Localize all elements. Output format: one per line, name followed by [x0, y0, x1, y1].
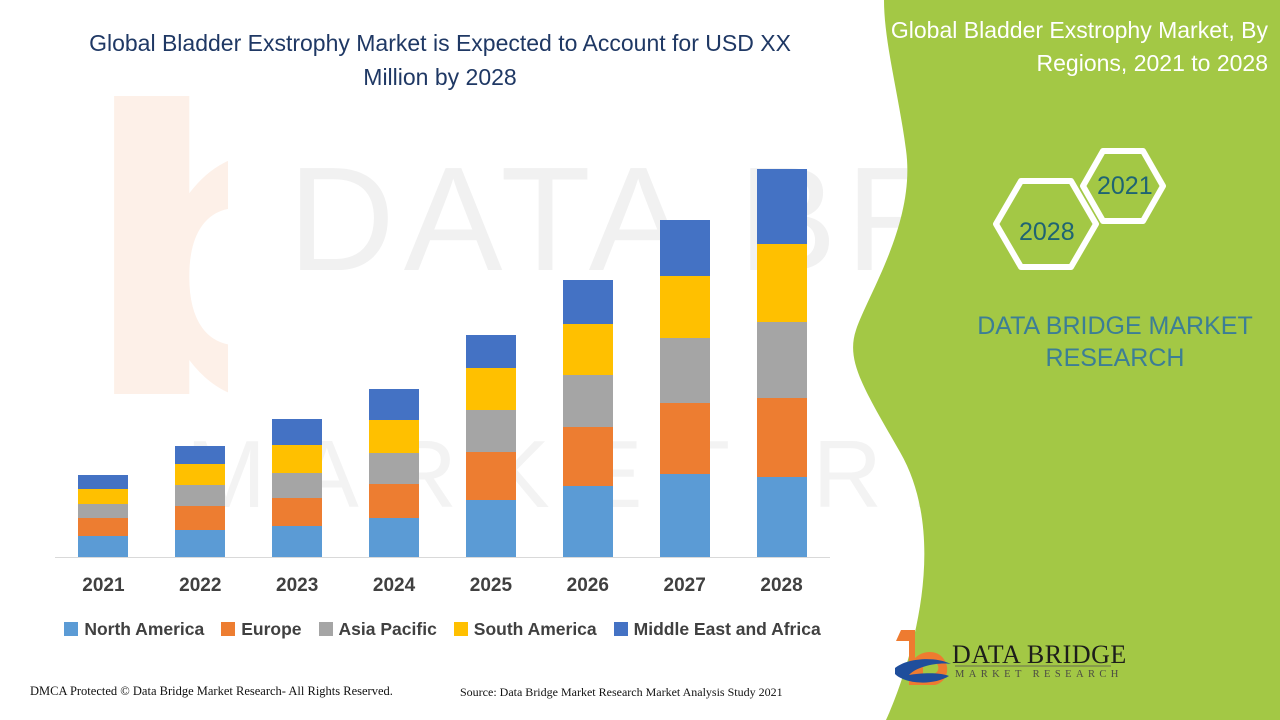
bar-column-2023	[249, 140, 345, 557]
bar-segment	[272, 498, 322, 526]
legend-swatch	[614, 622, 628, 636]
logo-wordmark: DATA BRIDGE	[952, 640, 1127, 670]
bar-segment	[369, 389, 419, 420]
bar-segment	[78, 504, 128, 519]
x-axis-tick-labels: 20212022202320242025202620272028	[55, 572, 830, 600]
bar-segment	[466, 368, 516, 410]
stacked-bar	[563, 280, 613, 557]
bar-column-2021	[55, 140, 151, 557]
hexagon-2021-label: 2021	[1097, 172, 1153, 201]
bar-segment	[272, 526, 322, 557]
x-axis-line	[55, 557, 830, 558]
bar-segment	[369, 420, 419, 452]
bar-segment	[369, 453, 419, 484]
bar-segment	[466, 335, 516, 368]
bar-segment	[272, 473, 322, 498]
bar-segment	[272, 419, 322, 445]
bar-segment	[563, 486, 613, 557]
stacked-bar	[78, 475, 128, 557]
legend-swatch	[64, 622, 78, 636]
x-tick-2028: 2028	[734, 575, 830, 597]
stacked-bar	[466, 335, 516, 557]
bar-segment	[660, 338, 710, 403]
bar-column-2022	[152, 140, 248, 557]
bar-segment	[78, 489, 128, 504]
bar-segment	[466, 410, 516, 452]
x-tick-2022: 2022	[152, 575, 248, 597]
bar-column-2025	[443, 140, 539, 557]
x-tick-2026: 2026	[540, 575, 636, 597]
hexagon-2028-label: 2028	[1019, 218, 1075, 247]
bar-segment	[660, 220, 710, 275]
bar-segment	[660, 276, 710, 339]
bar-segment	[369, 484, 419, 518]
logo-b-mark	[895, 630, 951, 685]
bar-segment	[757, 169, 807, 244]
chart-title: Global Bladder Exstrophy Market is Expec…	[60, 26, 820, 94]
panel-title: Global Bladder Exstrophy Market, By Regi…	[890, 14, 1268, 80]
x-tick-2021: 2021	[55, 575, 151, 597]
bar-segment	[175, 464, 225, 485]
bar-segment	[757, 322, 807, 397]
bar-segment	[175, 446, 225, 465]
bar-segment	[757, 477, 807, 557]
stacked-bar	[272, 419, 322, 557]
bar-segment	[78, 518, 128, 536]
bar-column-2026	[540, 140, 636, 557]
bar-column-2027	[637, 140, 733, 557]
bar-segment	[78, 475, 128, 490]
x-tick-2024: 2024	[346, 575, 442, 597]
bar-segment	[563, 324, 613, 375]
bar-segment	[466, 500, 516, 557]
x-tick-2025: 2025	[443, 575, 539, 597]
legend-label: South America	[474, 619, 597, 640]
hexagon-badges	[985, 145, 1185, 285]
legend-swatch	[221, 622, 235, 636]
legend-label: North America	[84, 619, 204, 640]
bar-segment	[563, 375, 613, 427]
x-tick-2023: 2023	[249, 575, 345, 597]
footer-copyright: DMCA Protected © Data Bridge Market Rese…	[30, 684, 393, 699]
bar-segment	[175, 530, 225, 557]
stacked-bar	[175, 446, 225, 558]
legend-label: Europe	[241, 619, 301, 640]
footer-source: Source: Data Bridge Market Research Mark…	[460, 685, 783, 700]
bar-segment	[563, 427, 613, 486]
bar-segment	[78, 536, 128, 557]
chart-legend: North AmericaEuropeAsia PacificSouth Ame…	[55, 616, 830, 642]
bar-segment	[563, 280, 613, 324]
bar-segment	[757, 398, 807, 477]
legend-item: South America	[454, 619, 597, 640]
bar-segment	[175, 506, 225, 530]
legend-item: North America	[64, 619, 204, 640]
legend-item: Middle East and Africa	[614, 619, 821, 640]
infographic-canvas: b DATA BRIDGE MARKET RESEARCH Global Bla…	[0, 0, 1280, 720]
legend-label: Asia Pacific	[339, 619, 437, 640]
logo-tagline: MARKET RESEARCH	[955, 669, 1123, 680]
x-tick-2027: 2027	[637, 575, 733, 597]
bar-segment	[660, 474, 710, 557]
legend-item: Asia Pacific	[319, 619, 437, 640]
legend-label: Middle East and Africa	[634, 619, 821, 640]
legend-swatch	[454, 622, 468, 636]
bar-segment	[175, 485, 225, 506]
stacked-bar-series	[55, 140, 830, 557]
bar-segment	[660, 403, 710, 474]
stacked-bar	[369, 389, 419, 557]
legend-item: Europe	[221, 619, 301, 640]
bar-segment	[272, 445, 322, 472]
bar-column-2024	[346, 140, 442, 557]
bar-segment	[369, 518, 419, 557]
legend-swatch	[319, 622, 333, 636]
bar-segment	[757, 244, 807, 322]
stacked-bar	[660, 220, 710, 557]
panel-brand-name: DATA BRIDGE MARKET RESEARCH	[965, 310, 1265, 374]
bar-column-2028	[734, 140, 830, 557]
stacked-bar	[757, 169, 807, 557]
bar-segment	[466, 452, 516, 500]
